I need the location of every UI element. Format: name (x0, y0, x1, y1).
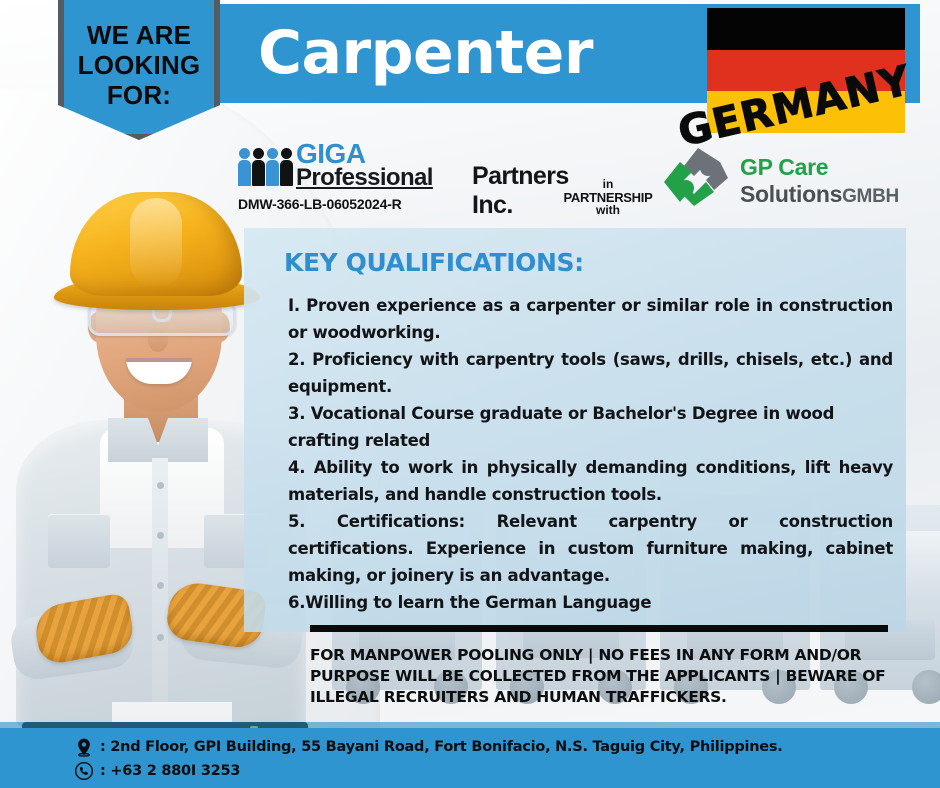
agency-name-professional: Professional (296, 164, 433, 192)
worker-shirt-pocket (48, 514, 110, 568)
interlocking-shapes-icon (658, 144, 736, 216)
yellow-hard-hat (70, 192, 242, 296)
worker-shirt-button (157, 634, 164, 641)
employer-name: GP Care SolutionsGMBH (740, 154, 899, 208)
ribbon-line-3: FOR: (58, 80, 220, 110)
dmw-license-code: DMW-366-LB-06052024-R (238, 196, 402, 212)
qualification-item: 2. Proficiency with carpentry tools (saw… (288, 346, 893, 400)
section-divider (310, 625, 888, 632)
job-poster: Carpenter GERMANY WE ARE LOOKING FOR: GI… (0, 0, 940, 788)
worker-shirt-placket (152, 458, 168, 726)
partnership-line-3: with (562, 204, 654, 217)
agency-name-partners: Partners Inc. (472, 162, 569, 220)
people-group-icon (238, 142, 300, 186)
page-title: Carpenter (258, 18, 593, 88)
footer-phone-text: : +63 2 880I 3253 (100, 763, 240, 779)
employer-suffix: GMBH (842, 186, 899, 207)
phone-icon (74, 761, 94, 781)
worker-shirt-button (157, 582, 164, 589)
ribbon-line-2: LOOKING (58, 50, 220, 80)
qualification-item: 4. Ability to work in physically demandi… (288, 454, 893, 508)
qualification-item: 5. Certifications: Relevant carpentry or… (288, 508, 893, 589)
employer-name-line-1: GP Care (740, 154, 899, 181)
gp-care-solutions-logo: GP Care SolutionsGMBH (658, 142, 908, 218)
footer-phone-row: : +63 2 880I 3253 (74, 761, 240, 781)
ribbon-line-1: WE ARE (58, 20, 220, 50)
qualification-item: 3. Vocational Course graduate or Bachelo… (288, 400, 893, 454)
partnership-label: in PARTNERSHIP with (562, 178, 654, 217)
employer-name-line-2: Solutions (740, 181, 842, 207)
qualifications-list: I. Proven experience as a carpenter or s… (288, 292, 893, 616)
footer-address-row: : 2nd Floor, GPI Building, 55 Bayani Roa… (74, 737, 783, 757)
ribbon-text: WE ARE LOOKING FOR: (58, 20, 220, 110)
worker-shirt-button (157, 482, 164, 489)
flag-band-black (707, 8, 905, 50)
footer-address-text: : 2nd Floor, GPI Building, 55 Bayani Roa… (100, 739, 783, 755)
disclaimer-text: FOR MANPOWER POOLING ONLY | NO FEES IN A… (310, 645, 890, 708)
qualification-item: I. Proven experience as a carpenter or s… (288, 292, 893, 346)
qualifications-heading: KEY QUALIFICATIONS: (284, 248, 584, 277)
qualification-item: 6.Willing to learn the German Language (288, 589, 893, 616)
worker-shirt-button (157, 532, 164, 539)
location-pin-icon (74, 737, 94, 757)
